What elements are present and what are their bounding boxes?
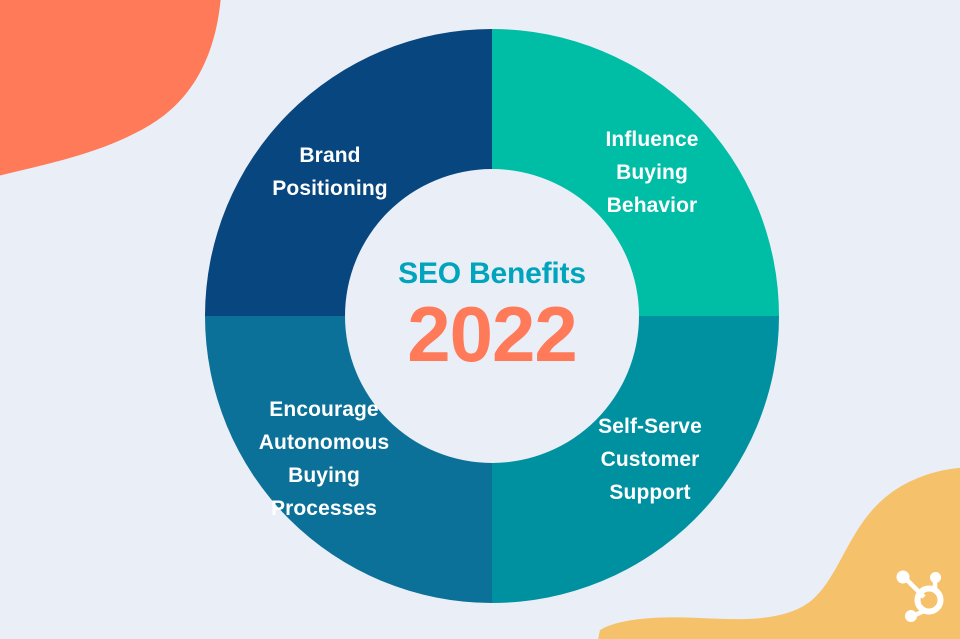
donut-chart [0, 0, 960, 639]
donut-center-disc [352, 176, 632, 456]
hubspot-sprocket-logo [893, 567, 949, 623]
infographic-canvas: Brand Positioning Influence Buying Behav… [0, 0, 960, 639]
